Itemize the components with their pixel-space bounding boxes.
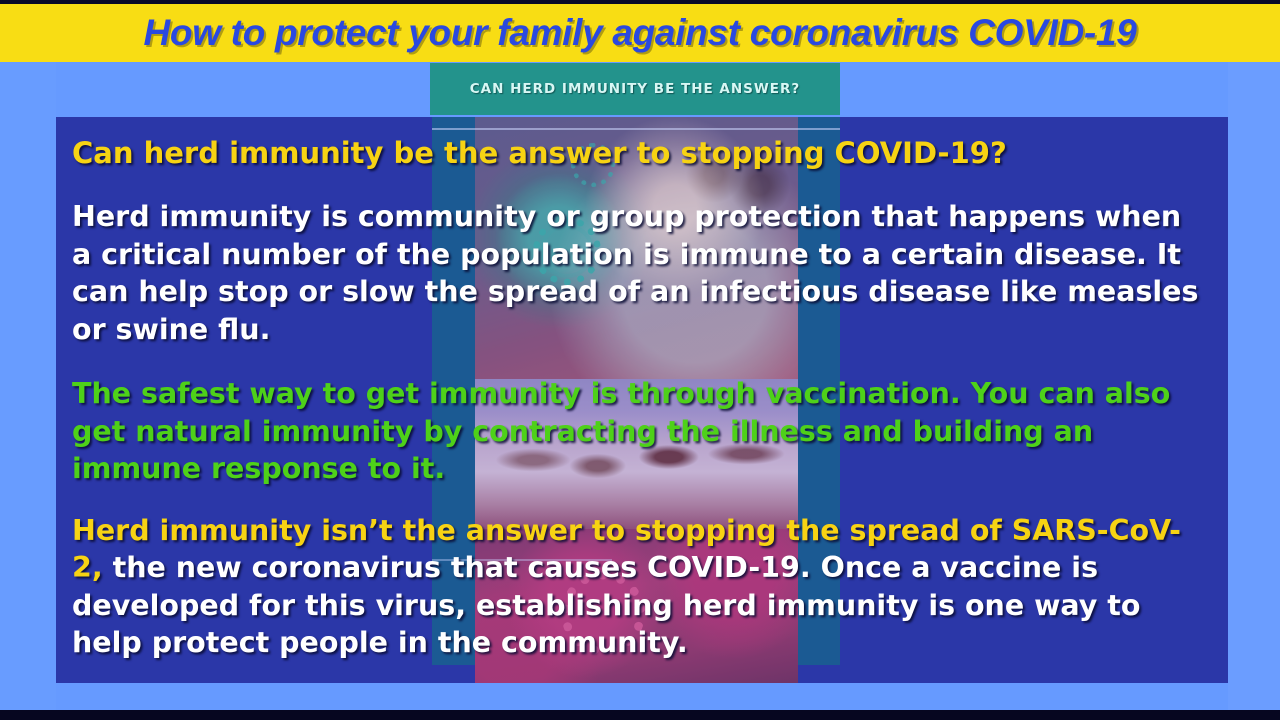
spacer-2	[72, 348, 1210, 375]
spacer-1	[72, 171, 1210, 198]
slide-body: Can herd immunity be the answer to stopp…	[56, 117, 1228, 683]
slide-canvas: How to protect your family against coron…	[0, 0, 1280, 720]
sub-banner: CAN HERD IMMUNITY BE THE ANSWER?	[430, 63, 840, 115]
paragraph-vaccination: The safest way to get immunity is throug…	[72, 375, 1210, 488]
slide-title: How to protect your family against coron…	[144, 12, 1137, 54]
paragraph-conclusion-rest: the new coronavirus that causes COVID-19…	[72, 551, 1141, 659]
letterbox-bottom	[0, 710, 1280, 720]
background-band-right	[1228, 62, 1280, 710]
spacer-3	[72, 488, 1210, 512]
content-panel: Can herd immunity be the answer to stopp…	[56, 117, 1228, 683]
body-heading: Can herd immunity be the answer to stopp…	[72, 135, 1210, 171]
paragraph-conclusion: Herd immunity isn’t the answer to stoppi…	[72, 512, 1210, 662]
sub-banner-label: CAN HERD IMMUNITY BE THE ANSWER?	[470, 81, 800, 97]
title-banner: How to protect your family against coron…	[0, 4, 1280, 62]
paragraph-definition: Herd immunity is community or group prot…	[72, 198, 1210, 348]
background-band-left	[0, 62, 56, 710]
